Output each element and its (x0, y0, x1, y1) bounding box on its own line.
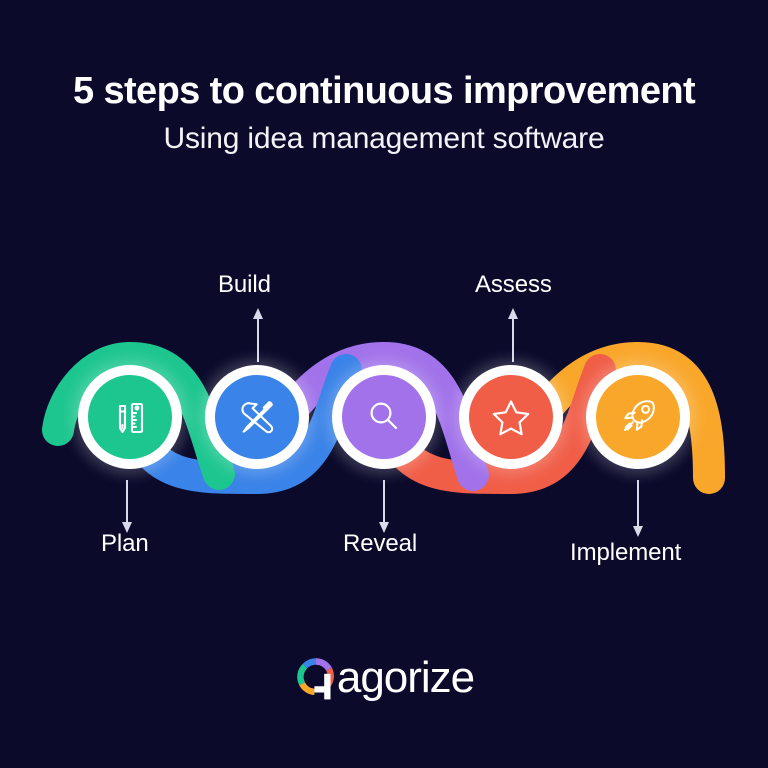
rocket-icon (614, 393, 662, 441)
step-label-plan: Plan (101, 530, 149, 558)
step-node-implement[interactable] (586, 365, 690, 469)
page-subtitle: Using idea management software (0, 122, 768, 157)
pencil-ruler-icon (107, 394, 153, 440)
step-node-reveal[interactable] (332, 365, 436, 469)
step-node-plan[interactable] (78, 365, 182, 469)
step-node-build-disc (215, 375, 299, 459)
agorize-wordmark: agorize (337, 656, 474, 700)
page-title: 5 steps to continuous improvement (0, 70, 768, 113)
step-node-build[interactable] (205, 365, 309, 469)
magnifier-icon (361, 394, 407, 440)
step-node-reveal-disc (342, 375, 426, 459)
wrench-screwdriver-icon (233, 393, 281, 441)
arrow-down-implement-head (633, 526, 643, 537)
step-node-plan-disc (88, 375, 172, 459)
step-node-assess-disc (469, 375, 553, 459)
step-label-reveal: Reveal (343, 530, 417, 558)
agorize-logo[interactable]: agorize (0, 655, 768, 701)
header: 5 steps to continuous improvement Using … (0, 70, 768, 156)
star-icon (487, 393, 535, 441)
step-node-implement-disc (596, 375, 680, 459)
arrow-up-assess-head (508, 308, 518, 319)
agorize-a-mark (294, 655, 338, 701)
step-label-assess: Assess (475, 271, 552, 299)
arrow-up-build-head (253, 308, 263, 319)
infographic-canvas: 5 steps to continuous improvement Using … (0, 0, 768, 768)
step-label-implement: Implement (570, 539, 681, 567)
step-label-build: Build (218, 271, 271, 299)
step-node-assess[interactable] (459, 365, 563, 469)
steps-diagram: Plan Build Reveal Assess Implement (0, 230, 768, 590)
